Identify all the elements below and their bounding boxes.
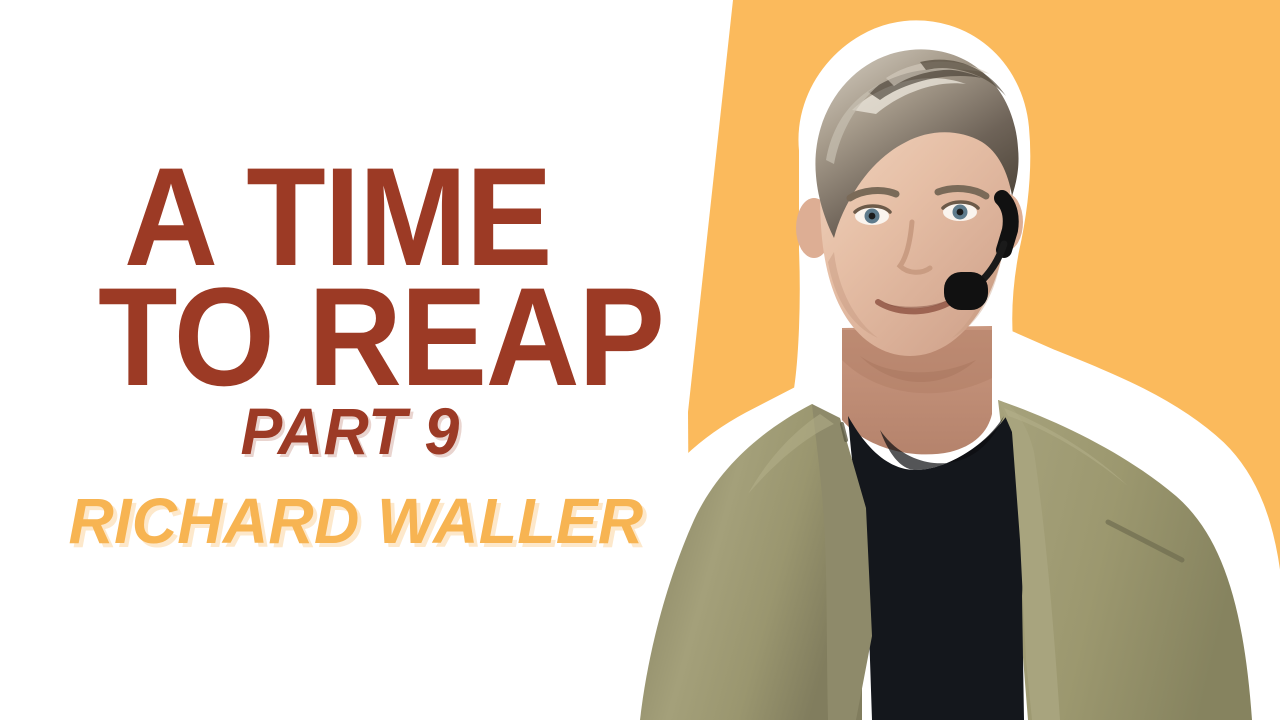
- title-line-2: TO REAP: [98, 267, 663, 407]
- speaker-name: RICHARD WALLER: [7, 489, 705, 553]
- part-label: PART 9: [18, 398, 683, 464]
- video-thumbnail: A TIME TO REAP PART 9 RICHARD WALLER: [0, 0, 1280, 720]
- title-text-block: A TIME TO REAP PART 9 RICHARD WALLER: [0, 0, 700, 720]
